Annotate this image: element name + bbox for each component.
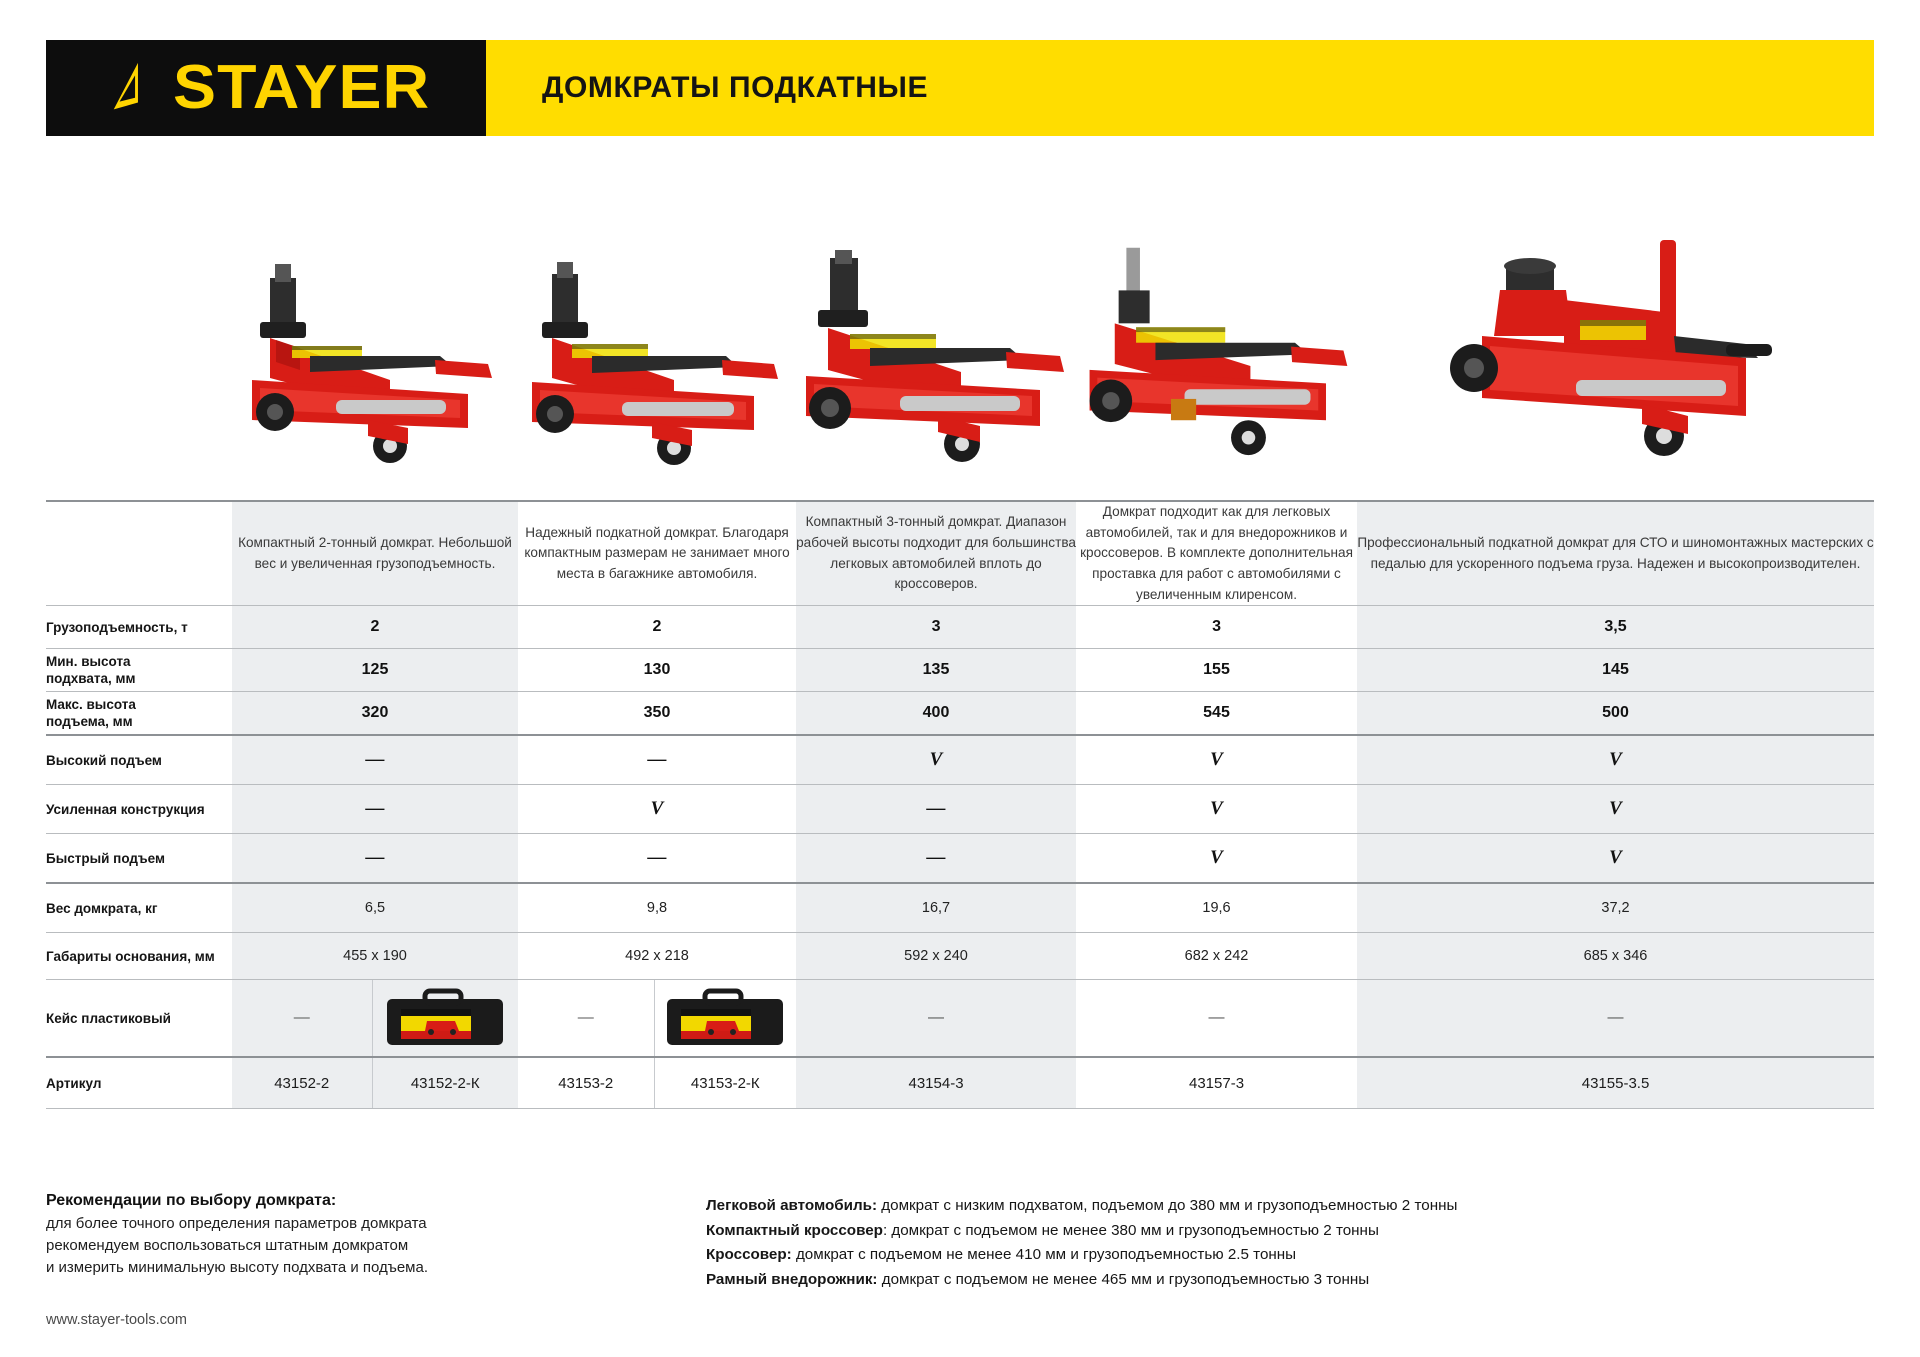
recommendations-line: рекомендуем воспользоваться штатным домк…	[46, 1235, 686, 1257]
vehicle-guide-term: Компактный кроссовер	[706, 1222, 883, 1239]
description-cell-1: Компактный 2-тонный домкрат. Небольшой в…	[232, 501, 518, 606]
cell-case-image-43152-2-K	[372, 980, 518, 1058]
vehicle-guide-line: Рамный внедорожник: домкрат с подъемом н…	[706, 1268, 1876, 1293]
description-row: Компактный 2-тонный домкрат. Небольшой в…	[46, 501, 1874, 606]
cell: 400	[796, 692, 1076, 736]
cell: —	[796, 785, 1076, 834]
table-row-capacity: Грузоподъемность, т 2 2 3 3 3,5	[46, 606, 1874, 649]
cell: 37,2	[1357, 883, 1874, 933]
cell: 682 x 242	[1076, 933, 1357, 980]
vehicle-guide-line: Кроссовер: домкрат с подъемом не менее 4…	[706, 1243, 1876, 1268]
spec-table: Компактный 2-тонный домкрат. Небольшой в…	[46, 500, 1874, 1109]
product-photo-43152-2	[232, 160, 518, 490]
brand-wordmark: STAYER	[173, 57, 430, 119]
row-label: Габариты основания, мм	[46, 933, 232, 980]
cell: —	[1357, 980, 1874, 1058]
product-image-strip	[46, 160, 1874, 490]
plastic-case-image	[373, 987, 519, 1049]
table-row-fast-lift: Быстрый подъем — — — V V	[46, 834, 1874, 884]
vehicle-guide-term: Рамный внедорожник:	[706, 1271, 877, 1288]
cell: —	[232, 980, 372, 1058]
cell: 19,6	[1076, 883, 1357, 933]
description-cell-4: Домкрат подходит как для легковых автомо…	[1076, 501, 1357, 606]
cell-case-image-43153-2-K	[654, 980, 796, 1058]
cell: 155	[1076, 649, 1357, 692]
cell: 2	[232, 606, 518, 649]
cell: —	[232, 834, 518, 884]
cell: 43155-3.5	[1357, 1057, 1874, 1109]
table-row-article: Артикул 43152-2 43152-2-К 43153-2 43153-…	[46, 1057, 1874, 1109]
product-photo-43155-3-5	[1357, 160, 1874, 490]
row-label: Грузоподъемность, т	[46, 606, 232, 649]
cell: V	[1076, 735, 1357, 785]
plastic-case-image	[655, 987, 797, 1049]
website-url[interactable]: www.stayer-tools.com	[46, 1312, 187, 1328]
cell: V	[796, 735, 1076, 785]
vehicle-guide-text: домкрат с подъемом не менее 465 мм и гру…	[877, 1271, 1369, 1288]
case-icon	[385, 987, 505, 1049]
vehicle-guide-line: Легковой автомобиль: домкрат с низким по…	[706, 1194, 1876, 1219]
cell: 145	[1357, 649, 1874, 692]
table-row-base-dimensions: Габариты основания, мм 455 x 190 492 x 2…	[46, 933, 1874, 980]
recommendations-block: Рекомендации по выбору домкрата: для бол…	[46, 1192, 686, 1279]
cell: V	[1076, 834, 1357, 884]
row-label: Артикул	[46, 1057, 232, 1109]
cell: —	[518, 834, 796, 884]
cell: 500	[1357, 692, 1874, 736]
row-label: Быстрый подъем	[46, 834, 232, 884]
cell: —	[796, 834, 1076, 884]
vehicle-guide-block: Легковой автомобиль: домкрат с низким по…	[706, 1194, 1876, 1293]
row-label: Макс. высота подъема, мм	[46, 692, 232, 736]
cell: —	[518, 980, 654, 1058]
cell: 6,5	[232, 883, 518, 933]
page-title: ДОМКРАТЫ ПОДКАТНЫЕ	[542, 71, 928, 105]
cell: V	[1357, 785, 1874, 834]
row-label-empty	[46, 501, 232, 606]
cell: V	[1076, 785, 1357, 834]
cell: 135	[796, 649, 1076, 692]
cell: 130	[518, 649, 796, 692]
cell: 685 x 346	[1357, 933, 1874, 980]
description-cell-2: Надежный подкатной домкрат. Благодаря ко…	[518, 501, 796, 606]
brand-logo: STAYER	[46, 40, 486, 136]
vehicle-guide-line: Компактный кроссовер: домкрат с подъемом…	[706, 1219, 1876, 1244]
description-cell-3: Компактный 3-тонный домкрат. Диапазон ра…	[796, 501, 1076, 606]
table-row-high-lift: Высокий подъем — — V V V	[46, 735, 1874, 785]
product-photo-43153-2	[518, 160, 796, 490]
recommendations-line: для более точного определения параметров…	[46, 1213, 686, 1235]
stayer-triangle-icon	[106, 57, 168, 119]
vehicle-guide-text: домкрат с подъемом не менее 410 мм и гру…	[792, 1246, 1296, 1263]
cell: 43153-2-К	[654, 1057, 796, 1109]
cell: V	[518, 785, 796, 834]
row-label: Мин. высота подхвата, мм	[46, 649, 232, 692]
table-row-min-height: Мин. высота подхвата, мм 125 130 135 155…	[46, 649, 1874, 692]
product-comparison-sheet: STAYER ДОМКРАТЫ ПОДКАТНЫЕ	[0, 0, 1920, 1357]
cell: V	[1357, 834, 1874, 884]
row-label: Высокий подъем	[46, 735, 232, 785]
cell: —	[232, 785, 518, 834]
row-label: Кейс пластиковый	[46, 980, 232, 1058]
vehicle-guide-text: : домкрат с подъемом не менее 380 мм и г…	[883, 1222, 1379, 1239]
row-label: Вес домкрата, кг	[46, 883, 232, 933]
cell: 16,7	[796, 883, 1076, 933]
cell: —	[232, 735, 518, 785]
cell: 545	[1076, 692, 1357, 736]
recommendations-heading: Рекомендации по выбору домкрата:	[46, 1192, 686, 1210]
cell: —	[518, 735, 796, 785]
description-cell-5: Профессиональный подкатной домкрат для С…	[1357, 501, 1874, 606]
case-icon	[665, 987, 785, 1049]
cell: 592 x 240	[796, 933, 1076, 980]
product-photo-43154-3	[796, 160, 1076, 490]
cell: 455 x 190	[232, 933, 518, 980]
cell: 350	[518, 692, 796, 736]
row-label: Усиленная конструкция	[46, 785, 232, 834]
cell: 43152-2	[232, 1057, 372, 1109]
page-title-bar: ДОМКРАТЫ ПОДКАТНЫЕ	[486, 40, 1874, 136]
product-photo-43157-3	[1076, 160, 1357, 490]
cell: 43154-3	[796, 1057, 1076, 1109]
cell: 43152-2-К	[372, 1057, 518, 1109]
cell: 3	[796, 606, 1076, 649]
cell: —	[1076, 980, 1357, 1058]
cell: 2	[518, 606, 796, 649]
vehicle-guide-term: Кроссовер:	[706, 1246, 792, 1263]
cell: 320	[232, 692, 518, 736]
cell: 3	[1076, 606, 1357, 649]
cell: 3,5	[1357, 606, 1874, 649]
table-row-plastic-case: Кейс пластиковый — —	[46, 980, 1874, 1058]
table-row-weight: Вес домкрата, кг 6,5 9,8 16,7 19,6 37,2	[46, 883, 1874, 933]
page-header: STAYER ДОМКРАТЫ ПОДКАТНЫЕ	[46, 40, 1874, 136]
vehicle-guide-text: домкрат с низким подхватом, подъемом до …	[877, 1197, 1457, 1214]
cell: 492 x 218	[518, 933, 796, 980]
cell: 43153-2	[518, 1057, 654, 1109]
cell: 43157-3	[1076, 1057, 1357, 1109]
recommendations-line: и измерить минимальную высоту подхвата и…	[46, 1257, 686, 1279]
cell: V	[1357, 735, 1874, 785]
cell: —	[796, 980, 1076, 1058]
table-row-reinforced: Усиленная конструкция — V — V V	[46, 785, 1874, 834]
table-row-max-height: Макс. высота подъема, мм 320 350 400 545…	[46, 692, 1874, 736]
cell: 125	[232, 649, 518, 692]
cell: 9,8	[518, 883, 796, 933]
vehicle-guide-term: Легковой автомобиль:	[706, 1197, 877, 1214]
